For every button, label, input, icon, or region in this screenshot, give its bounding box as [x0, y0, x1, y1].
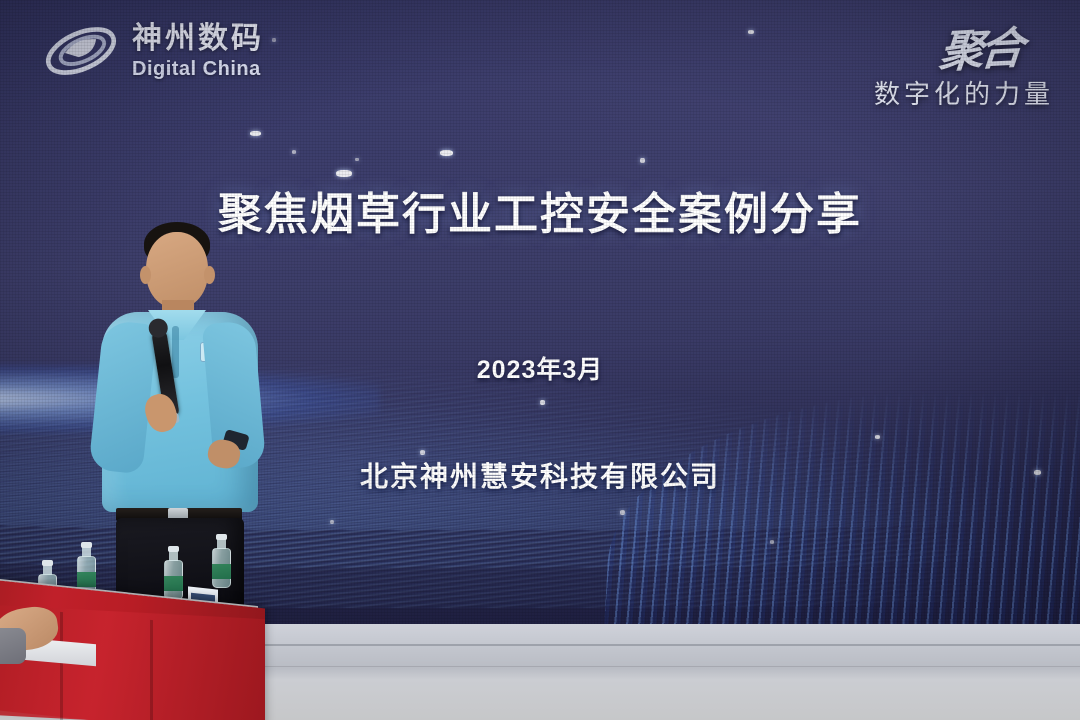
table-skirt-pleat: [60, 612, 63, 720]
logo-chinese-name: 神州数码: [132, 24, 264, 54]
presenter-ear: [204, 266, 215, 284]
particle-dot: [620, 510, 625, 515]
particle-dot: [770, 540, 774, 544]
particle-dot: [748, 30, 754, 34]
water-bottle: [164, 560, 183, 600]
particle-dot: [640, 158, 645, 163]
event-logo: 聚合 数字化的力量: [874, 14, 1054, 111]
particle-dot: [540, 400, 545, 405]
bottle-cap: [42, 560, 53, 566]
particle-dot: [330, 520, 334, 524]
digital-china-logo: 神州数码 Digital China: [42, 20, 264, 82]
event-logo-calligraphy: 聚合: [937, 12, 1023, 80]
digital-china-swirl-icon: [42, 20, 120, 82]
presenter-head: [146, 232, 208, 308]
particle-dot: [875, 435, 880, 439]
bottle-cap: [216, 534, 227, 540]
particle-dot: [250, 131, 261, 136]
bottle-neck: [217, 539, 226, 549]
bottle-cap: [168, 546, 179, 552]
bottle-neck: [169, 551, 178, 561]
bottle-label: [77, 572, 96, 587]
bottle-label: [212, 564, 231, 579]
presenter-ear: [140, 266, 151, 284]
particle-dot: [355, 158, 359, 161]
particle-dot: [336, 170, 352, 177]
particle-dot: [440, 150, 453, 156]
event-logo-tagline: 数字化的力量: [874, 74, 1054, 111]
bottle-neck: [82, 547, 91, 557]
bottle-cap: [81, 542, 92, 548]
particle-dot: [292, 150, 296, 154]
presenter-placket: [172, 326, 179, 378]
water-bottle: [212, 548, 231, 588]
conference-photo-stage: 神州数码 Digital China 聚合 数字化的力量 聚焦烟草行业工控安全案…: [0, 0, 1080, 720]
logo-english-name: Digital China: [132, 59, 264, 79]
particle-dot: [272, 38, 276, 42]
bottle-label: [164, 576, 183, 591]
table-skirt-pleat: [150, 620, 153, 720]
attendee-sleeve: [0, 628, 26, 664]
bottle-neck: [43, 565, 52, 575]
